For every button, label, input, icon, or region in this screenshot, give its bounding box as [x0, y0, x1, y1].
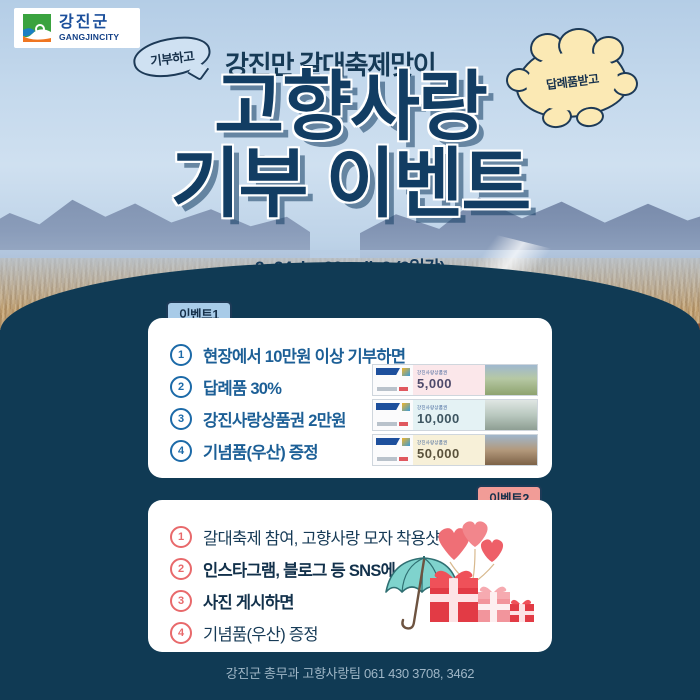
certificate-flag-icon: [376, 368, 400, 375]
certificate-face: 강진사랑상품권 10,000: [413, 400, 485, 430]
certificate-photo: [485, 435, 537, 465]
certificate-photo: [485, 365, 537, 395]
speech-bubble-donate-label: 기부하고: [149, 45, 195, 69]
certificate-seal-area: [373, 435, 413, 465]
certificate-microtext: [377, 422, 397, 426]
list-item: 1 갈대축제 참여, 고향사랑 모자 착용샷: [170, 522, 440, 552]
item-number: 4: [170, 440, 192, 462]
certificate-seal-area: [373, 365, 413, 395]
certificate-face: 강진사랑상품권 50,000: [413, 435, 485, 465]
certificate-emblem-icon: [402, 368, 410, 376]
certificate-microtext: [377, 387, 397, 391]
gift-certificate: 강진사랑상품권 5,000: [372, 364, 538, 396]
gift-box-large: [430, 571, 478, 622]
logo-text-block: 강진군 GANGJINCITY: [59, 15, 119, 42]
item-number: 2: [170, 558, 192, 580]
item-number: 2: [170, 376, 192, 398]
item-label: 사진 게시하면: [203, 589, 294, 613]
gift-certificate-group: 강진사랑상품권 5,000 강진사랑상품권 10,000: [372, 364, 538, 469]
event-1-item-list: 1 현장에서 10만원 이상 기부하면 2 답례품 30% 3 강진사랑상품권 …: [170, 340, 405, 468]
list-item: 2 답례품 30%: [170, 372, 405, 402]
list-item: 3 강진사랑상품권 2만원: [170, 404, 405, 434]
certificate-amount: 5,000: [417, 377, 481, 390]
poster-title-line-2: 기부 이벤트: [135, 149, 565, 220]
certificate-amount: 10,000: [417, 412, 481, 425]
item-number: 1: [170, 526, 192, 548]
logo-name-en: GANGJINCITY: [59, 33, 119, 42]
certificate-face: 강진사랑상품권 5,000: [413, 365, 485, 395]
certificate-photo: [485, 400, 537, 430]
item-label: 강진사랑상품권 2만원: [203, 407, 346, 431]
certificate-seal-area: [373, 400, 413, 430]
poster-title: 고향사랑 기부 이벤트: [135, 72, 565, 221]
item-label: 갈대축제 참여, 고향사랑 모자 착용샷: [203, 525, 440, 549]
logo-name-kr: 강진군: [59, 15, 119, 31]
certificate-amount: 50,000: [417, 447, 481, 460]
footer-contact: 강진군 총무과 고향사랑팀 061 430 3708, 3462: [0, 663, 700, 682]
certificate-caption: 강진사랑상품권: [417, 405, 481, 411]
certificate-stamp-icon: [399, 422, 408, 426]
item-number: 1: [170, 344, 192, 366]
certificate-emblem-icon: [402, 403, 410, 411]
item-number: 3: [170, 408, 192, 430]
certificate-flag-icon: [376, 403, 400, 410]
gift-box-small: [510, 600, 534, 622]
item-label: 기념품(우산) 증정: [203, 621, 318, 645]
item-number: 4: [170, 622, 192, 644]
list-item: 1 현장에서 10만원 이상 기부하면: [170, 340, 405, 370]
item-label: 기념품(우산) 증정: [203, 439, 318, 463]
gift-box-medium: [478, 587, 510, 622]
gift-certificate: 강진사랑상품권 50,000: [372, 434, 538, 466]
certificate-stamp-icon: [399, 457, 408, 461]
certificate-flag-icon: [376, 438, 400, 445]
item-number: 3: [170, 590, 192, 612]
list-item: 4 기념품(우산) 증정: [170, 436, 405, 466]
gift-boxes-illustration: [420, 516, 538, 628]
item-label: 답례품 30%: [203, 375, 281, 399]
gift-certificate: 강진사랑상품권 10,000: [372, 399, 538, 431]
gangjin-city-logo: 강진군 GANGJINCITY: [14, 8, 140, 48]
item-label: 인스타그램, 블로그 등 SNS에: [203, 557, 395, 581]
certificate-stamp-icon: [399, 387, 408, 391]
event-1-card: 1 현장에서 10만원 이상 기부하면 2 답례품 30% 3 강진사랑상품권 …: [148, 318, 552, 478]
certificate-microtext: [377, 457, 397, 461]
certificate-caption: 강진사랑상품권: [417, 370, 481, 376]
certificate-emblem-icon: [402, 438, 410, 446]
event-2-card: 1 갈대축제 참여, 고향사랑 모자 착용샷 2 인스타그램, 블로그 등 SN…: [148, 500, 552, 652]
poster-title-line-1: 고향사랑: [214, 65, 486, 150]
poster-root: 강진군 GANGJINCITY 기부하고 답례품받고 강진만 갈대축제맞이 고향…: [0, 0, 700, 700]
certificate-caption: 강진사랑상품권: [417, 440, 481, 446]
logo-emblem-icon: [20, 12, 54, 44]
